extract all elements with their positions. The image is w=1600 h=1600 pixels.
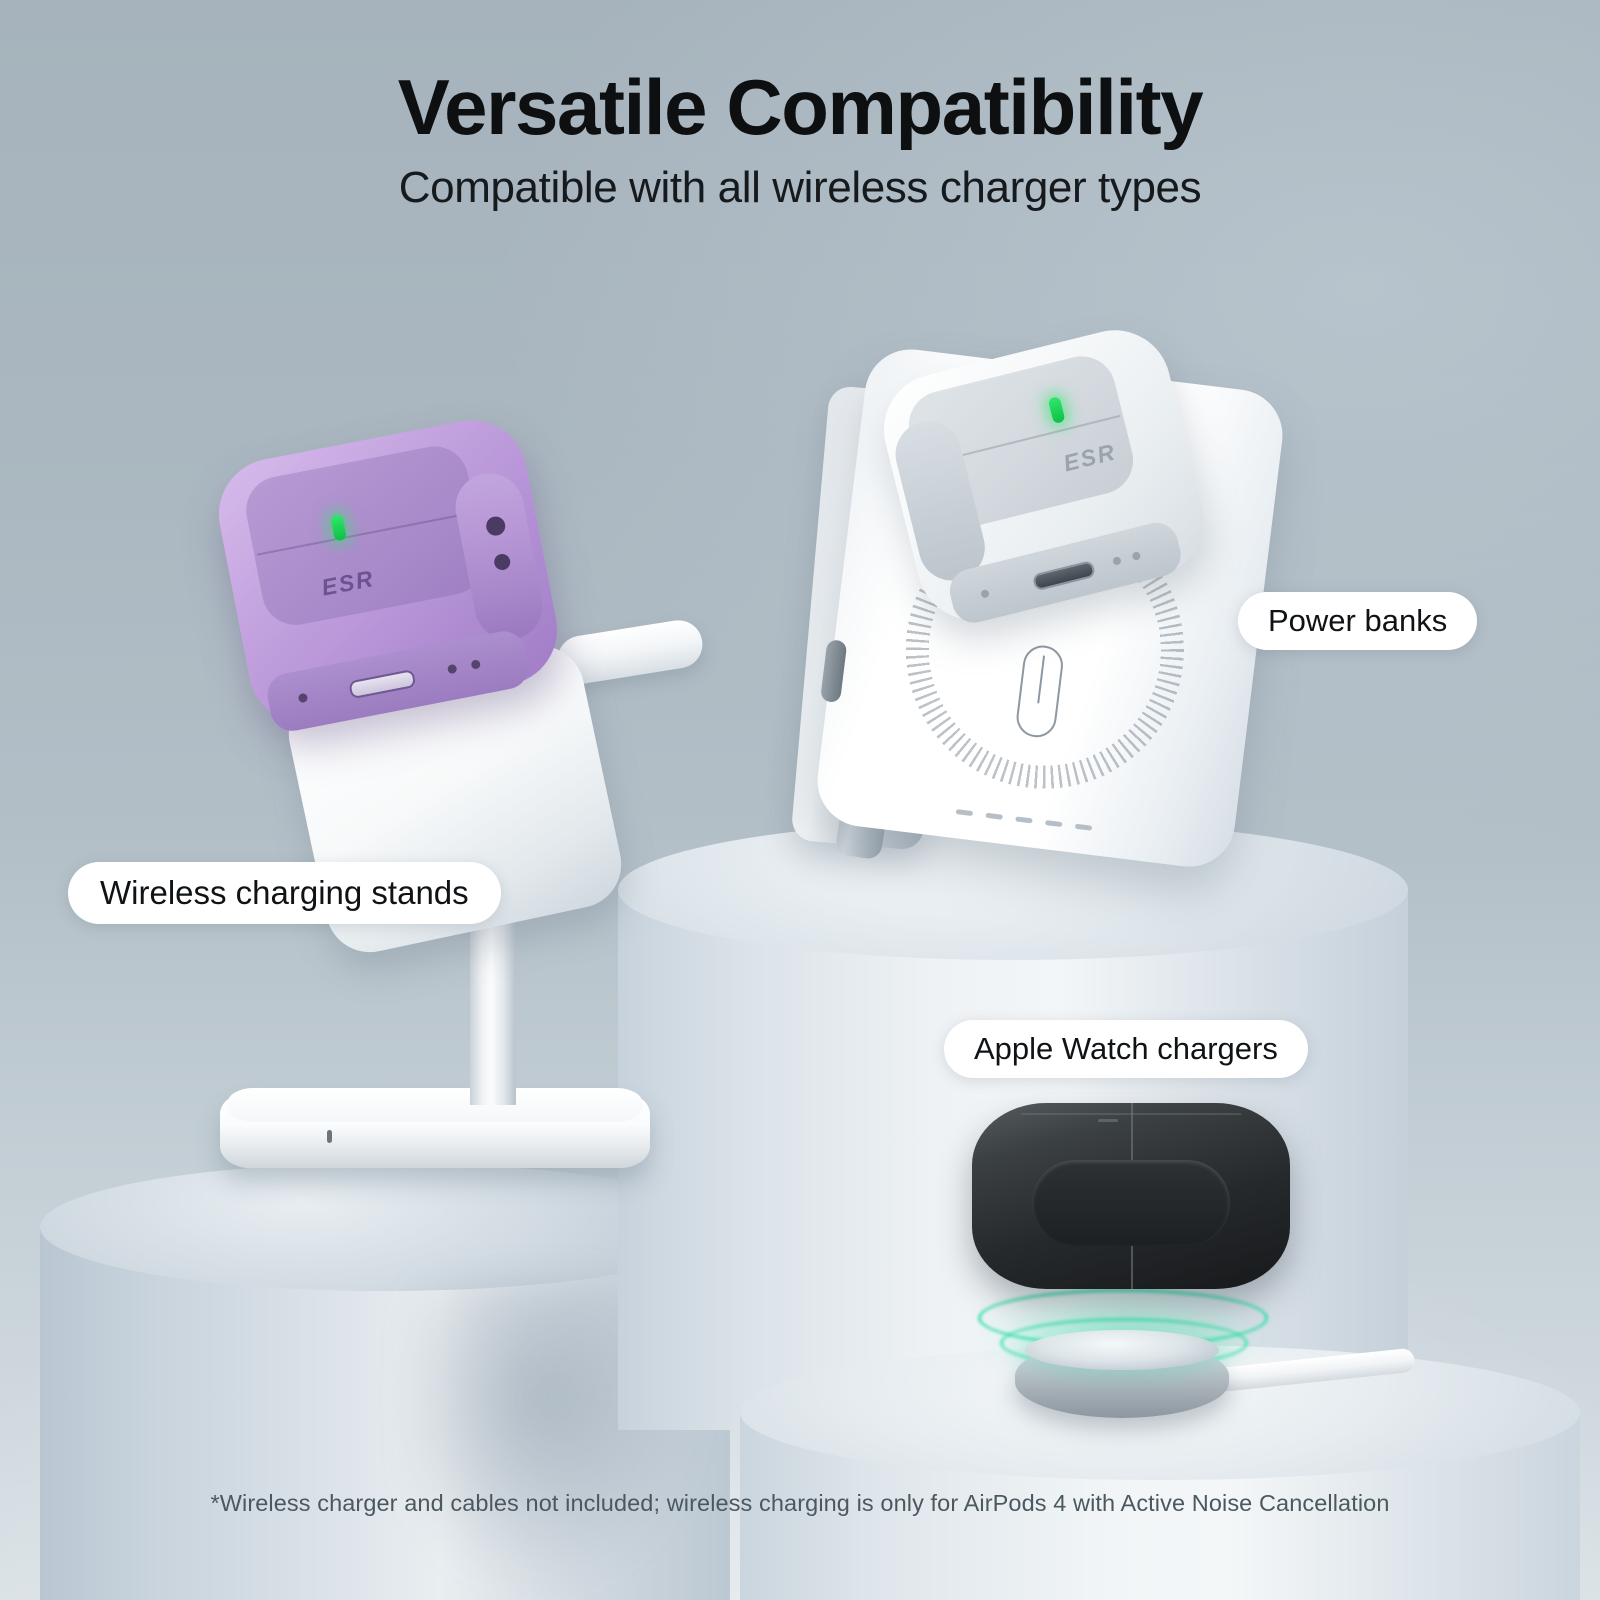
- callout-label: Power banks: [1268, 603, 1447, 639]
- battery-led: [985, 813, 1002, 820]
- callout-label: Wireless charging stands: [100, 874, 469, 912]
- battery-led: [1015, 816, 1032, 823]
- callout-apple-watch-chargers: Apple Watch chargers: [944, 1020, 1308, 1078]
- case-hinge-mark: [1098, 1119, 1118, 1122]
- stand-indicator-light: [327, 1130, 332, 1143]
- product-scene: ESR ESR: [0, 0, 1600, 1600]
- callout-wireless-charging-stands: Wireless charging stands: [68, 862, 501, 924]
- callout-power-banks: Power banks: [1238, 592, 1477, 650]
- case-lid: [240, 440, 489, 630]
- battery-led: [956, 809, 973, 816]
- page-subtitle: Compatible with all wireless charger typ…: [0, 163, 1600, 213]
- airpods-case-black: [972, 1103, 1290, 1289]
- battery-led: [1075, 824, 1092, 831]
- battery-level-indicator: [956, 809, 1093, 831]
- callout-label: Apple Watch chargers: [974, 1031, 1278, 1067]
- battery-led: [1045, 820, 1062, 827]
- disclaimer-footnote: *Wireless charger and cables not include…: [0, 1490, 1600, 1517]
- page-title: Versatile Compatibility: [0, 62, 1600, 153]
- apple-watch-charger-puck: [1015, 1340, 1229, 1418]
- airpods-case-purple: ESR: [209, 411, 566, 734]
- watch-charger-face: [1025, 1330, 1219, 1370]
- stand-base-top: [227, 1088, 643, 1122]
- case-magnet-oval: [1032, 1160, 1230, 1246]
